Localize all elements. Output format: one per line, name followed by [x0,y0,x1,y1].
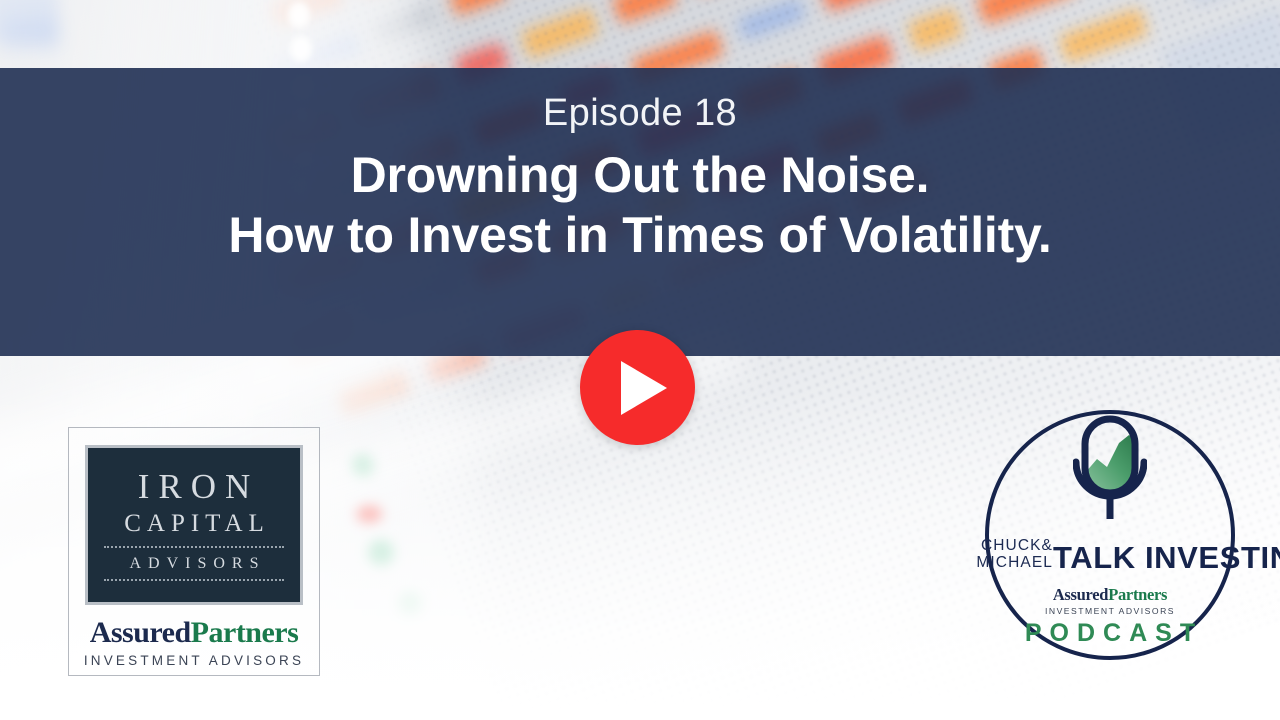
assuredpartners-lockup: AssuredPartners INVESTMENT ADVISORS [69,618,319,668]
episode-label: Episode 18 [543,94,737,134]
partners-word: Partners [191,616,299,649]
assuredpartners-subtitle: INVESTMENT ADVISORS [69,653,319,668]
talk-investing-podcast-logo: CHUCK& MICHAEL TALK INVESTING AssuredPar… [955,405,1245,695]
microphone-with-growth-chart-icon [1073,415,1147,521]
iron-capital-line-2: CAPITAL [96,509,292,539]
podcast-partners-word: Partners [1108,585,1167,604]
iron-capital-line-1: IRON [96,469,292,506]
show-title: TALK INVESTING [1053,540,1280,576]
podcast-assuredpartners-subtitle: INVESTMENT ADVISORS [1000,606,1220,616]
iron-capital-line-3: ADVISORS [96,554,292,573]
title-line-1: Drowning Out the Noise. [351,146,930,204]
title-line-2: How to Invest in Times of Volatility. [228,206,1051,264]
podcast-assuredpartners-wordmark: AssuredPartners [1000,587,1220,604]
podcast-word: PODCAST [1000,619,1220,648]
dotted-divider-top [104,546,284,548]
iron-capital-mark: IRON CAPITAL ADVISORS [85,445,303,605]
assured-word: Assured [90,616,191,649]
title-banner: Episode 18 Drowning Out the Noise. How t… [0,68,1280,356]
hosts-line-1: CHUCK& [945,537,1053,554]
iron-capital-logo: IRON CAPITAL ADVISORS AssuredPartners IN… [68,427,320,676]
video-thumbnail: Episode 18 Drowning Out the Noise. How t… [0,0,1280,720]
play-triangle-icon [621,361,667,415]
assuredpartners-wordmark: AssuredPartners [69,618,319,648]
dotted-divider-bottom [104,579,284,581]
hosts-line-2: MICHAEL [945,554,1053,571]
hosts-names: CHUCK& MICHAEL [945,537,1053,572]
podcast-assuredpartners-lockup: AssuredPartners INVESTMENT ADVISORS [1000,587,1220,616]
podcast-assured-word: Assured [1053,585,1108,604]
play-button[interactable] [580,330,695,445]
